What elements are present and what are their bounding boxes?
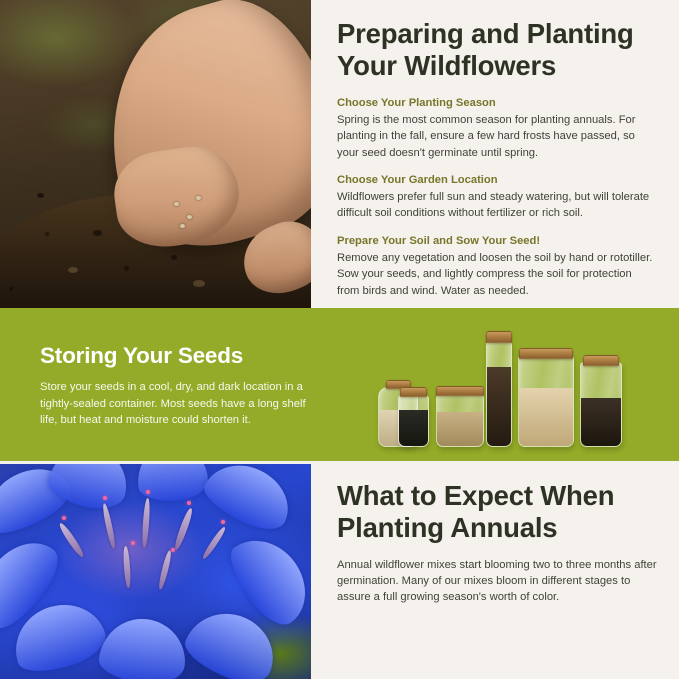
divider-green-bottom: [0, 458, 679, 461]
image-seed-jars: [340, 311, 679, 461]
jar-contents: [581, 398, 621, 446]
expect-body: Annual wildflower mixes start blooming t…: [337, 557, 657, 606]
storing-body: Store your seeds in a cool, dry, and dar…: [40, 379, 322, 428]
subheading-garden-location: Choose Your Garden Location: [337, 173, 657, 188]
section-preparing-planting: Preparing and Planting Your Wildflowers …: [0, 0, 679, 311]
body-garden-location: Wildflowers prefer full sun and steady w…: [337, 189, 657, 222]
expect-title: What to Expect When Planting Annuals: [337, 480, 657, 544]
image-hand-planting-seeds: [0, 0, 311, 311]
page-title: Preparing and Planting Your Wildflowers: [337, 18, 657, 82]
seed-jar: [486, 341, 512, 447]
stamen-tip: [146, 490, 150, 494]
jar-cork: [400, 387, 427, 397]
soil-highlight: [193, 280, 205, 287]
seed: [187, 215, 192, 219]
stamen-tip: [187, 501, 191, 505]
panel-expect-text: What to Expect When Planting Annuals Ann…: [311, 464, 679, 679]
seed-jar: [436, 394, 484, 447]
body-prepare-soil: Remove any vegetation and loosen the soi…: [337, 250, 657, 299]
subheading-prepare-soil: Prepare Your Soil and Sow Your Seed!: [337, 234, 657, 249]
section-storing-seeds: Storing Your Seeds Store your seeds in a…: [0, 311, 679, 461]
jar-contents: [399, 410, 428, 446]
jar-cork: [519, 348, 573, 359]
image-blue-cornflower: [0, 464, 311, 679]
infographic-page: Preparing and Planting Your Wildflowers …: [0, 0, 679, 679]
section-what-to-expect: What to Expect When Planting Annuals Ann…: [0, 464, 679, 679]
stamen-tip: [103, 496, 107, 500]
jar-cork: [486, 331, 512, 343]
stamen-tip: [171, 548, 175, 552]
body-planting-season: Spring is the most common season for pla…: [337, 112, 657, 161]
panel-preparing-text: Preparing and Planting Your Wildflowers …: [311, 0, 679, 311]
storing-title: Storing Your Seeds: [40, 344, 322, 369]
jar-contents: [437, 412, 483, 446]
jar-cork: [436, 386, 484, 396]
seed-jar: [398, 395, 429, 447]
subheading-planting-season: Choose Your Planting Season: [337, 96, 657, 111]
panel-storing-text: Storing Your Seeds Store your seeds in a…: [0, 344, 340, 429]
seed-jar: [518, 355, 574, 447]
stamen-tip: [221, 520, 225, 524]
seed-jar: [580, 362, 622, 447]
seed: [196, 196, 201, 200]
jar-cork: [583, 355, 619, 366]
jar-contents: [519, 388, 573, 446]
stamen-tip: [62, 516, 66, 520]
jar-contents: [487, 367, 511, 446]
